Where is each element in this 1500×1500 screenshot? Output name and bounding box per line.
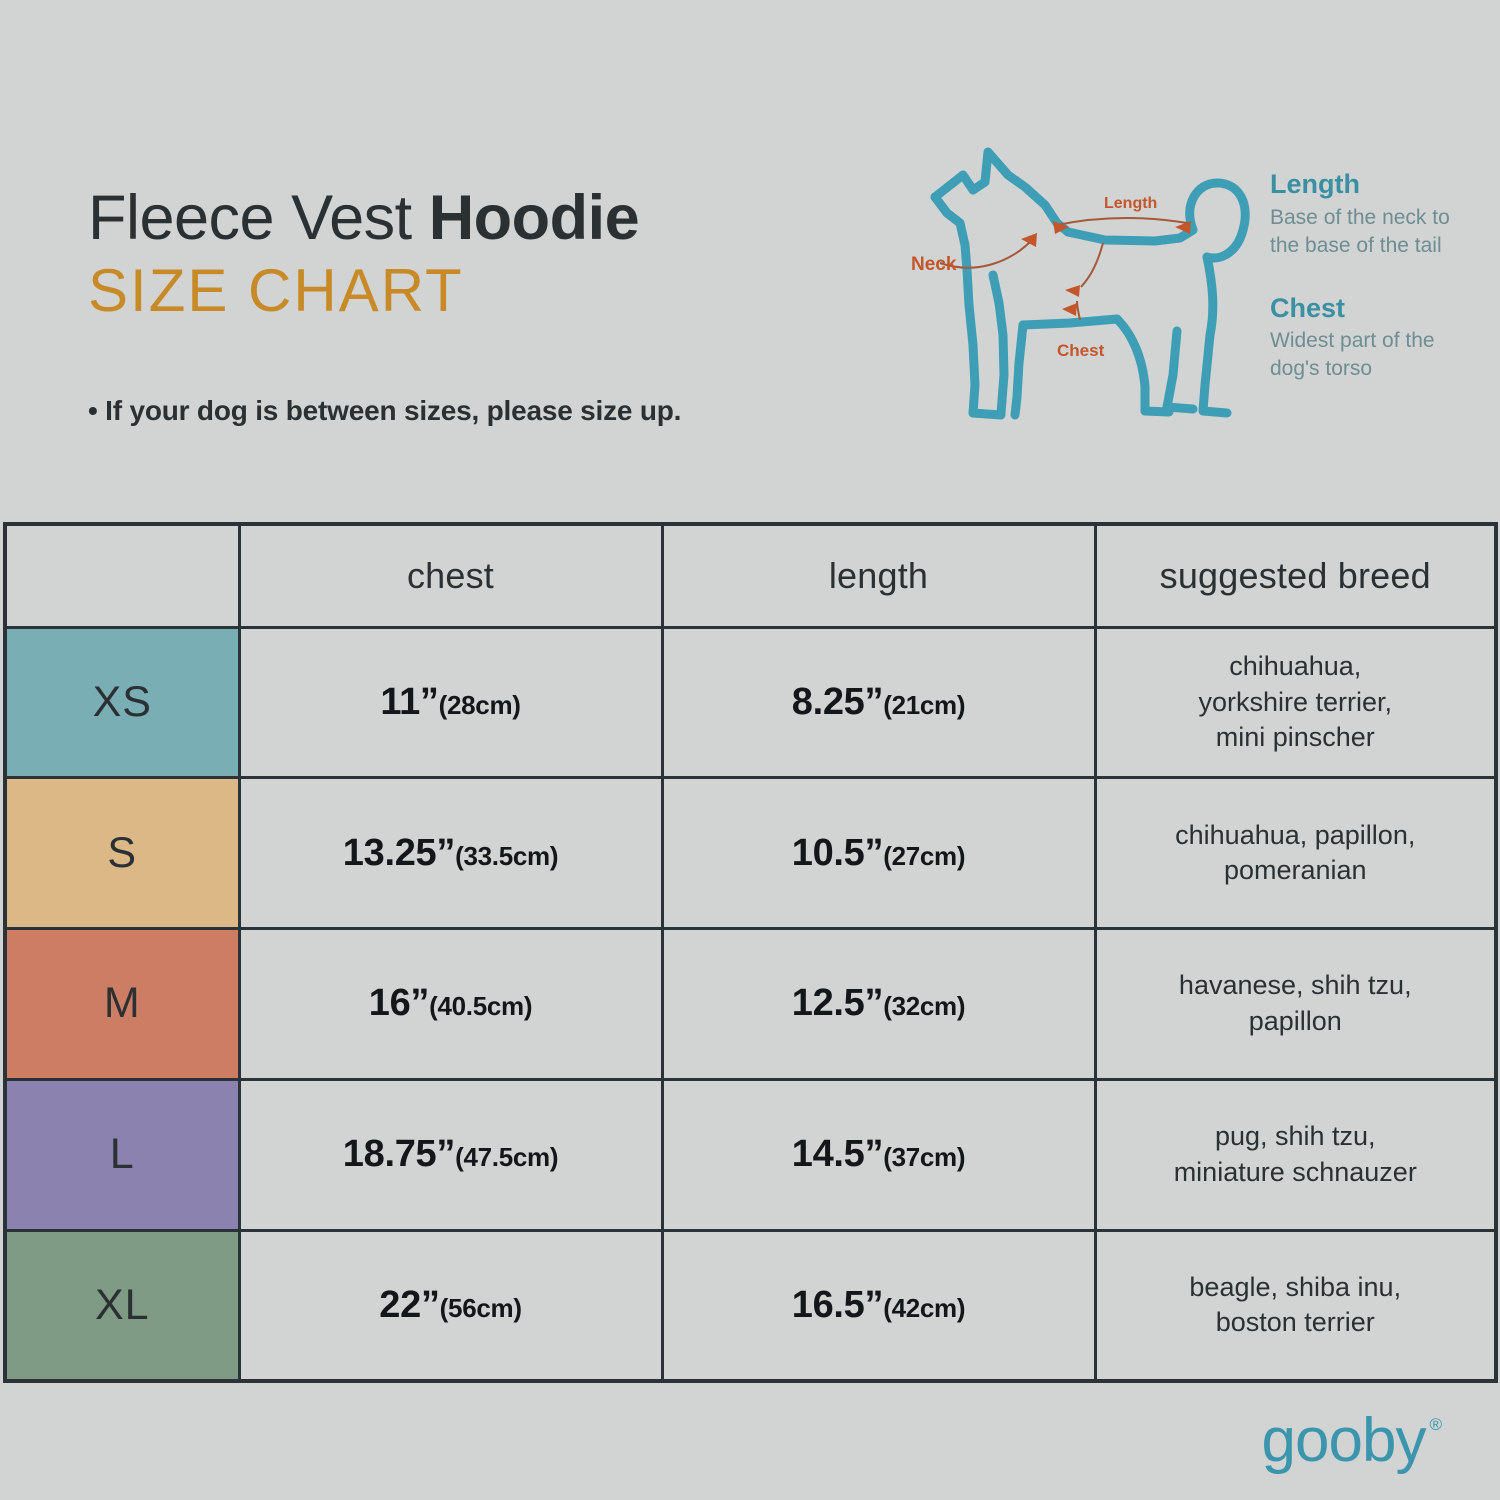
length-inches-s: 10.5” xyxy=(792,832,883,874)
length-inches-xs: 8.25” xyxy=(792,681,883,723)
sizing-note: • If your dog is between sizes, please s… xyxy=(88,395,681,427)
column-header-breed: suggested breed xyxy=(1095,524,1496,627)
breed-line1-s: chihuahua, papillon, xyxy=(1175,820,1415,850)
legend-desc-chest: Widest part of the dog's torso xyxy=(1270,327,1485,383)
length-cm-m: (32cm) xyxy=(883,991,965,1021)
column-header-length: length xyxy=(662,524,1095,627)
size-cell-s: S xyxy=(5,778,239,929)
column-header-size xyxy=(5,524,239,627)
registered-trademark-icon: ® xyxy=(1429,1416,1442,1433)
size-cell-xs: XS xyxy=(5,627,239,778)
legend-desc-chest-line1: Widest part of the xyxy=(1270,329,1435,352)
table-row: S 13.25”(33.5cm) 10.5”(27cm) chihuahua, … xyxy=(5,778,1496,929)
length-cell-m: 12.5”(32cm) xyxy=(662,929,1095,1080)
breed-line2-xs: yorkshire terrier, xyxy=(1198,687,1392,717)
length-inches-xl: 16.5” xyxy=(792,1284,883,1326)
chest-cm-xl: (56cm) xyxy=(440,1293,522,1323)
diagram-label-neck: Neck xyxy=(911,254,957,275)
chest-cm-l: (47.5cm) xyxy=(455,1142,558,1172)
legend-desc-length: Base of the neck to the base of the tail xyxy=(1270,204,1485,260)
breed-cell-xs: chihuahua,yorkshire terrier,mini pinsche… xyxy=(1095,627,1496,778)
chest-inches-xs: 11” xyxy=(380,681,438,723)
legend-item-length: Length Base of the neck to the base of t… xyxy=(1270,168,1485,260)
chest-cell-xs: 11”(28cm) xyxy=(239,627,662,778)
table-row: M 16”(40.5cm) 12.5”(32cm) havanese, shih… xyxy=(5,929,1496,1080)
size-cell-xl: XL xyxy=(5,1230,239,1381)
length-inches-m: 12.5” xyxy=(792,982,883,1024)
chest-arrowhead-down xyxy=(1065,285,1080,297)
breed-line2-l: miniature schnauzer xyxy=(1174,1157,1417,1187)
page-title-light: Fleece Vest xyxy=(88,183,429,253)
chest-cell-l: 18.75”(47.5cm) xyxy=(239,1079,662,1230)
dog-outline-icon xyxy=(935,152,1245,415)
length-cm-xl: (42cm) xyxy=(883,1293,965,1323)
chest-cell-xl: 22”(56cm) xyxy=(239,1230,662,1381)
chest-inches-m: 16” xyxy=(369,982,429,1024)
chest-cell-m: 16”(40.5cm) xyxy=(239,929,662,1080)
length-cm-s: (27cm) xyxy=(883,841,965,871)
neck-arrowhead xyxy=(1021,233,1037,247)
breed-line1-l: pug, shih tzu, xyxy=(1215,1121,1376,1151)
breed-cell-l: pug, shih tzu,miniature schnauzer xyxy=(1095,1079,1496,1230)
breed-line2-m: papillon xyxy=(1249,1006,1342,1036)
size-cell-m: M xyxy=(5,929,239,1080)
legend-term-length: Length xyxy=(1270,168,1485,202)
breed-line1-xs: chihuahua, xyxy=(1229,651,1361,681)
length-inches-l: 14.5” xyxy=(792,1133,883,1175)
chest-inches-l: 18.75” xyxy=(343,1133,455,1175)
length-leader-line xyxy=(1057,218,1187,225)
column-header-chest: chest xyxy=(239,524,662,627)
breed-line1-xl: beagle, shiba inu, xyxy=(1189,1272,1401,1302)
length-cm-l: (37cm) xyxy=(883,1142,965,1172)
diagram-labels: Neck Length Chest xyxy=(911,195,1157,360)
legend-desc-length-line2: the base of the tail xyxy=(1270,234,1442,257)
length-cell-xl: 16.5”(42cm) xyxy=(662,1230,1095,1381)
chest-leader-line-upper xyxy=(1081,243,1103,287)
chest-inches-xl: 22” xyxy=(379,1284,439,1326)
dog-measurement-diagram: Neck Length Chest xyxy=(905,135,1255,420)
table-row: XL 22”(56cm) 16.5”(42cm) beagle, shiba i… xyxy=(5,1230,1496,1381)
breed-line1-m: havanese, shih tzu, xyxy=(1179,970,1412,1000)
chest-arrowhead-up xyxy=(1062,303,1077,316)
diagram-label-length: Length xyxy=(1104,195,1157,212)
legend-desc-length-line1: Base of the neck to xyxy=(1270,206,1450,229)
page-title-bold: Hoodie xyxy=(429,183,640,253)
breed-cell-xl: beagle, shiba inu,boston terrier xyxy=(1095,1230,1496,1381)
length-cell-xs: 8.25”(21cm) xyxy=(662,627,1095,778)
chest-leader-line-lower xyxy=(1077,301,1080,320)
legend-item-chest: Chest Widest part of the dog's torso xyxy=(1270,292,1485,384)
size-cell-l: L xyxy=(5,1079,239,1230)
legend-desc-chest-line2: dog's torso xyxy=(1270,357,1372,380)
legend-term-chest: Chest xyxy=(1270,292,1485,326)
brand-logo: gooby ® xyxy=(1262,1410,1442,1472)
breed-line2-s: pomeranian xyxy=(1224,855,1367,885)
breed-line2-xl: boston terrier xyxy=(1216,1307,1375,1337)
breed-line3-xs: mini pinscher xyxy=(1216,722,1375,752)
length-cell-l: 14.5”(37cm) xyxy=(662,1079,1095,1230)
table-row: XS 11”(28cm) 8.25”(21cm) chihuahua,yorks… xyxy=(5,627,1496,778)
brand-wordmark: gooby xyxy=(1262,1410,1426,1472)
table-row: L 18.75”(47.5cm) 14.5”(37cm) pug, shih t… xyxy=(5,1079,1496,1230)
header-section: Fleece Vest Hoodie SIZE CHART • If your … xyxy=(0,0,1500,520)
title-block: Fleece Vest Hoodie SIZE CHART xyxy=(88,185,888,322)
chest-inches-s: 13.25” xyxy=(343,832,455,874)
chest-cm-xs: (28cm) xyxy=(439,690,521,720)
chest-cm-s: (33.5cm) xyxy=(455,841,558,871)
length-cell-s: 10.5”(27cm) xyxy=(662,778,1095,929)
table-header-row: chest length suggested breed xyxy=(5,524,1496,627)
page-title: Fleece Vest Hoodie xyxy=(88,185,888,251)
length-cm-xs: (21cm) xyxy=(883,690,965,720)
subtitle: SIZE CHART xyxy=(88,259,888,322)
breed-cell-s: chihuahua, papillon,pomeranian xyxy=(1095,778,1496,929)
measurement-legend: Length Base of the neck to the base of t… xyxy=(1270,168,1485,415)
diagram-label-chest: Chest xyxy=(1057,341,1105,360)
chest-cm-m: (40.5cm) xyxy=(429,991,532,1021)
breed-cell-m: havanese, shih tzu,papillon xyxy=(1095,929,1496,1080)
chest-cell-s: 13.25”(33.5cm) xyxy=(239,778,662,929)
size-chart-table: chest length suggested breed XS 11”(28cm… xyxy=(3,522,1498,1383)
